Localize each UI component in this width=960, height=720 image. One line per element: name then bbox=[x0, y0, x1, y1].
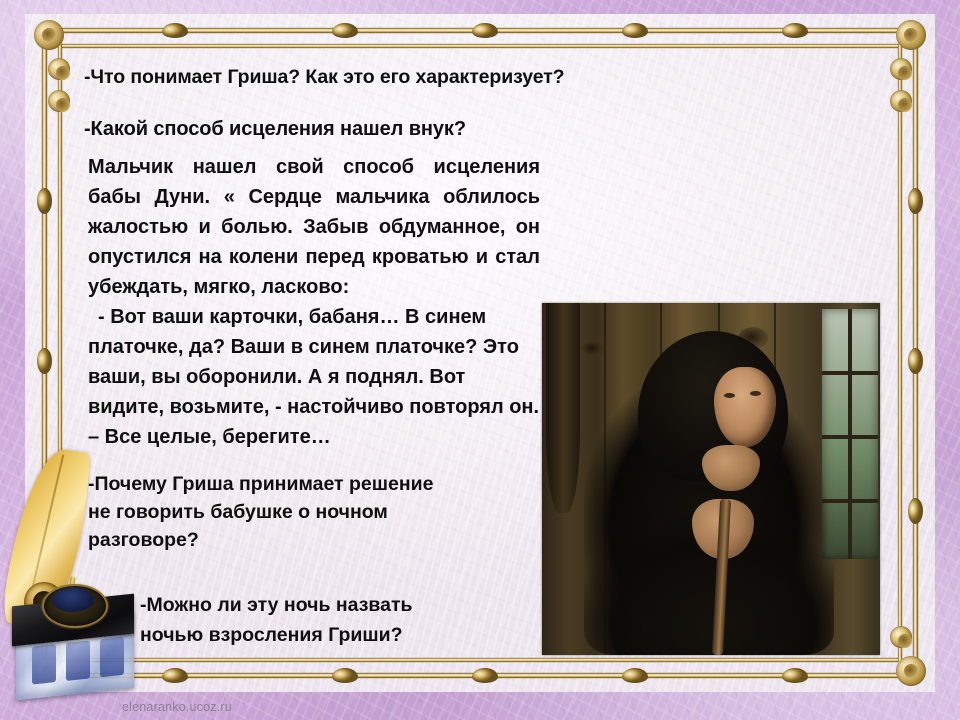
question-1: -Что понимает Гриша? Как это его характе… bbox=[84, 66, 564, 89]
wood-knot-1 bbox=[582, 341, 604, 357]
question-2: -Какой способ исцеления нашел внук? bbox=[84, 118, 466, 141]
inkwell-facet-3 bbox=[100, 637, 124, 678]
quote-block: Мальчик нашел свой способ исцеления бабы… bbox=[88, 152, 540, 452]
question-3: -Почему Гриша принимает решение не говор… bbox=[88, 470, 528, 554]
window-mullion-h1 bbox=[822, 371, 878, 375]
painting-curtain bbox=[546, 303, 580, 513]
quote-paragraph-2: - Вот ваши карточки, бабаня… В синем пла… bbox=[88, 302, 540, 452]
painting-eye-left bbox=[724, 393, 735, 398]
question-3-line-3: разговоре? bbox=[88, 526, 528, 554]
window-mullion-vertical bbox=[848, 309, 852, 559]
question-4: -Можно ли эту ночь назвать ночью взросле… bbox=[140, 590, 540, 650]
inkwell-ink bbox=[52, 588, 94, 612]
inkwell-facet-2 bbox=[66, 640, 90, 681]
question-4-line-1: -Можно ли эту ночь назвать bbox=[140, 590, 540, 620]
question-3-line-2: не говорить бабушке о ночном bbox=[88, 498, 528, 526]
presentation-slide: -Что понимает Гриша? Как это его характе… bbox=[0, 0, 960, 720]
watermark: elenaranko.ucoz.ru bbox=[122, 700, 232, 714]
quill-and-inkwell bbox=[2, 448, 152, 698]
question-4-line-2: ночью взросления Гриши? bbox=[140, 620, 540, 650]
question-3-line-1: -Почему Гриша принимает решение bbox=[88, 470, 528, 498]
inkwell-facet-1 bbox=[32, 644, 56, 685]
quote-paragraph-1: Мальчик нашел свой способ исцеления бабы… bbox=[88, 152, 540, 302]
painting-old-woman bbox=[542, 303, 880, 655]
painting-eye-right bbox=[750, 391, 761, 396]
